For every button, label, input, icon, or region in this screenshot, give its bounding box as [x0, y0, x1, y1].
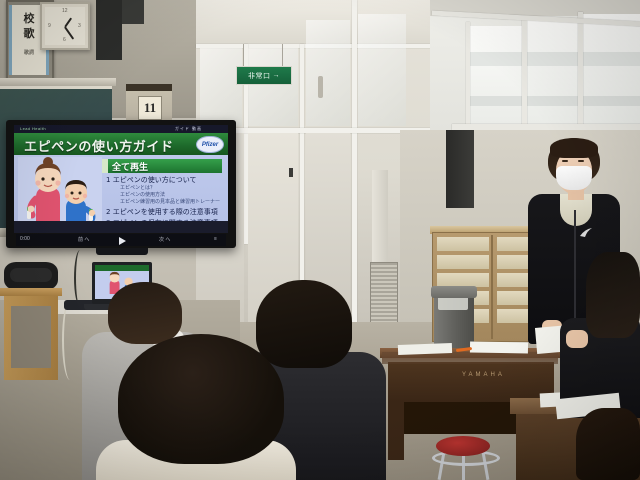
exit-sign-arrow-icon: → — [273, 72, 281, 79]
slide-section-tab — [102, 159, 108, 173]
slide-footer — [14, 221, 228, 233]
shelf-cell — [437, 273, 489, 287]
trash-bin-lid[interactable] — [431, 286, 477, 298]
exit-sign-wire-right — [282, 44, 283, 66]
slide-section-label: 全て再生 — [112, 160, 148, 173]
stool-seat — [436, 436, 490, 456]
face-mask — [556, 166, 592, 190]
piano-leg-left — [388, 400, 404, 460]
list-item: 1 エピペンの使い方について — [106, 176, 224, 185]
exterior-building-band-2 — [470, 96, 640, 106]
glass-pane-2 — [248, 48, 298, 126]
window-mullion-2 — [522, 18, 527, 134]
door-handle[interactable] — [318, 76, 323, 98]
slide-brand-right: ガイド 動画 — [175, 126, 202, 132]
student-far-right-hair — [576, 408, 640, 480]
exit-sign-wire-left — [243, 44, 244, 66]
wall-cabinet-dark-2 — [122, 0, 144, 24]
podium-top — [0, 288, 62, 296]
window-pane-1 — [470, 26, 522, 130]
shelf-cell — [437, 255, 489, 269]
jacket-logo-icon — [580, 228, 592, 237]
window-mullion-1 — [466, 22, 470, 134]
cable-1 — [74, 250, 86, 306]
clock-numeral-9: 9 — [48, 23, 51, 29]
podium-opening — [11, 306, 51, 368]
presenter-hair-front — [550, 138, 598, 158]
window-pane-2 — [526, 20, 578, 130]
wall-pipe — [372, 170, 388, 262]
menu-num: 2 — [106, 208, 110, 216]
exit-sign: 非常口 → — [236, 66, 292, 85]
exterior-building-band — [470, 52, 640, 66]
slide-title: エピペンの使い方ガイド — [24, 136, 174, 155]
room-number-panel-top — [126, 84, 172, 91]
menu-icon[interactable]: ≡ — [214, 236, 217, 242]
list-item-sub: エピペンとは？ — [120, 185, 224, 192]
glass-pane-3 — [306, 20, 350, 126]
student-center-hair — [256, 280, 352, 368]
list-item: 2 エピペンを使用する際の注意事項 — [106, 208, 224, 217]
play-icon[interactable] — [119, 237, 126, 245]
equipment-case-detail — [10, 268, 52, 282]
presentation-slide: Lead Health ガイド 動画 エピペンの使い方ガイド Pfizer — [14, 125, 228, 233]
student-left-hair — [108, 282, 182, 344]
wall-clock: 12 3 6 9 — [40, 2, 90, 50]
room-number-plate: 11 — [138, 96, 162, 120]
classroom-scene: 非常口 → 校 歌 — [0, 0, 640, 480]
tv-screen[interactable]: Lead Health ガイド 動画 エピペンの使い方ガイド Pfizer — [14, 125, 228, 233]
menu-text: エピペンを使用する際の注意事項 — [113, 208, 218, 216]
presenter-eye-left — [562, 160, 568, 162]
exit-sign-label: 非常口 — [248, 71, 271, 81]
scroll-subtext: 歌詞 — [12, 49, 46, 56]
curtain — [446, 130, 474, 208]
scroll-border-left — [9, 5, 12, 75]
slide-body: 全て再生 1 エピペンの使い方について エピペンとは？ エピペンの使用方法 エピ… — [14, 155, 228, 221]
paper-on-piano-2 — [470, 341, 528, 353]
clock-numeral-12: 12 — [62, 8, 68, 14]
student-right-hair — [586, 252, 640, 338]
presenter-jacket-zip — [574, 210, 576, 320]
door-latch[interactable] — [289, 168, 293, 177]
glass-mullion-3 — [352, 0, 357, 344]
cable-2 — [62, 300, 78, 380]
glass-pane-1 — [200, 48, 242, 126]
slide-brand-left: Lead Health — [20, 126, 46, 131]
tv-stand — [96, 248, 148, 255]
student-right-hand — [566, 330, 588, 348]
list-item-sub: エピペン練習用の見本品と練習用トレーナー — [120, 199, 224, 206]
next-button[interactable]: 次 へ — [159, 236, 170, 243]
clock-numeral-3: 3 — [78, 23, 81, 29]
presenter-eye-right — [578, 160, 584, 162]
epipen-illustration — [18, 157, 102, 231]
wall-tv[interactable]: Lead Health ガイド 動画 エピペンの使い方ガイド Pfizer — [6, 120, 236, 248]
player-time: 0:00 — [20, 236, 30, 242]
window-pane-3 — [582, 14, 640, 130]
chalkboard-top-rail — [0, 78, 116, 86]
piano-brand-label: YAMAHA — [462, 372, 505, 378]
student-center-front-hair — [118, 334, 284, 464]
pfizer-logo-text: Pfizer — [202, 142, 218, 148]
list-item-sub: エピペンの使用方法 — [120, 192, 224, 199]
shelf-divider — [491, 235, 493, 339]
paper-on-piano-1 — [398, 343, 452, 355]
menu-text: エピペンの使い方について — [113, 176, 197, 184]
clock-numeral-6: 6 — [63, 37, 66, 43]
piano-body — [388, 362, 554, 402]
pfizer-logo: Pfizer — [196, 136, 224, 153]
glass-pane-4 — [358, 14, 406, 126]
menu-num: 1 — [106, 176, 110, 184]
room-number-label: 11 — [144, 100, 156, 116]
window-mullion-3 — [578, 12, 583, 132]
prev-button[interactable]: 前 へ — [78, 236, 89, 243]
clock-face: 12 3 6 9 — [45, 7, 85, 45]
shelf-cell — [437, 237, 489, 251]
media-player-bar[interactable]: 0:00 前 へ 次 へ ≡ — [16, 234, 226, 246]
wall-cabinet-dark — [96, 0, 122, 60]
